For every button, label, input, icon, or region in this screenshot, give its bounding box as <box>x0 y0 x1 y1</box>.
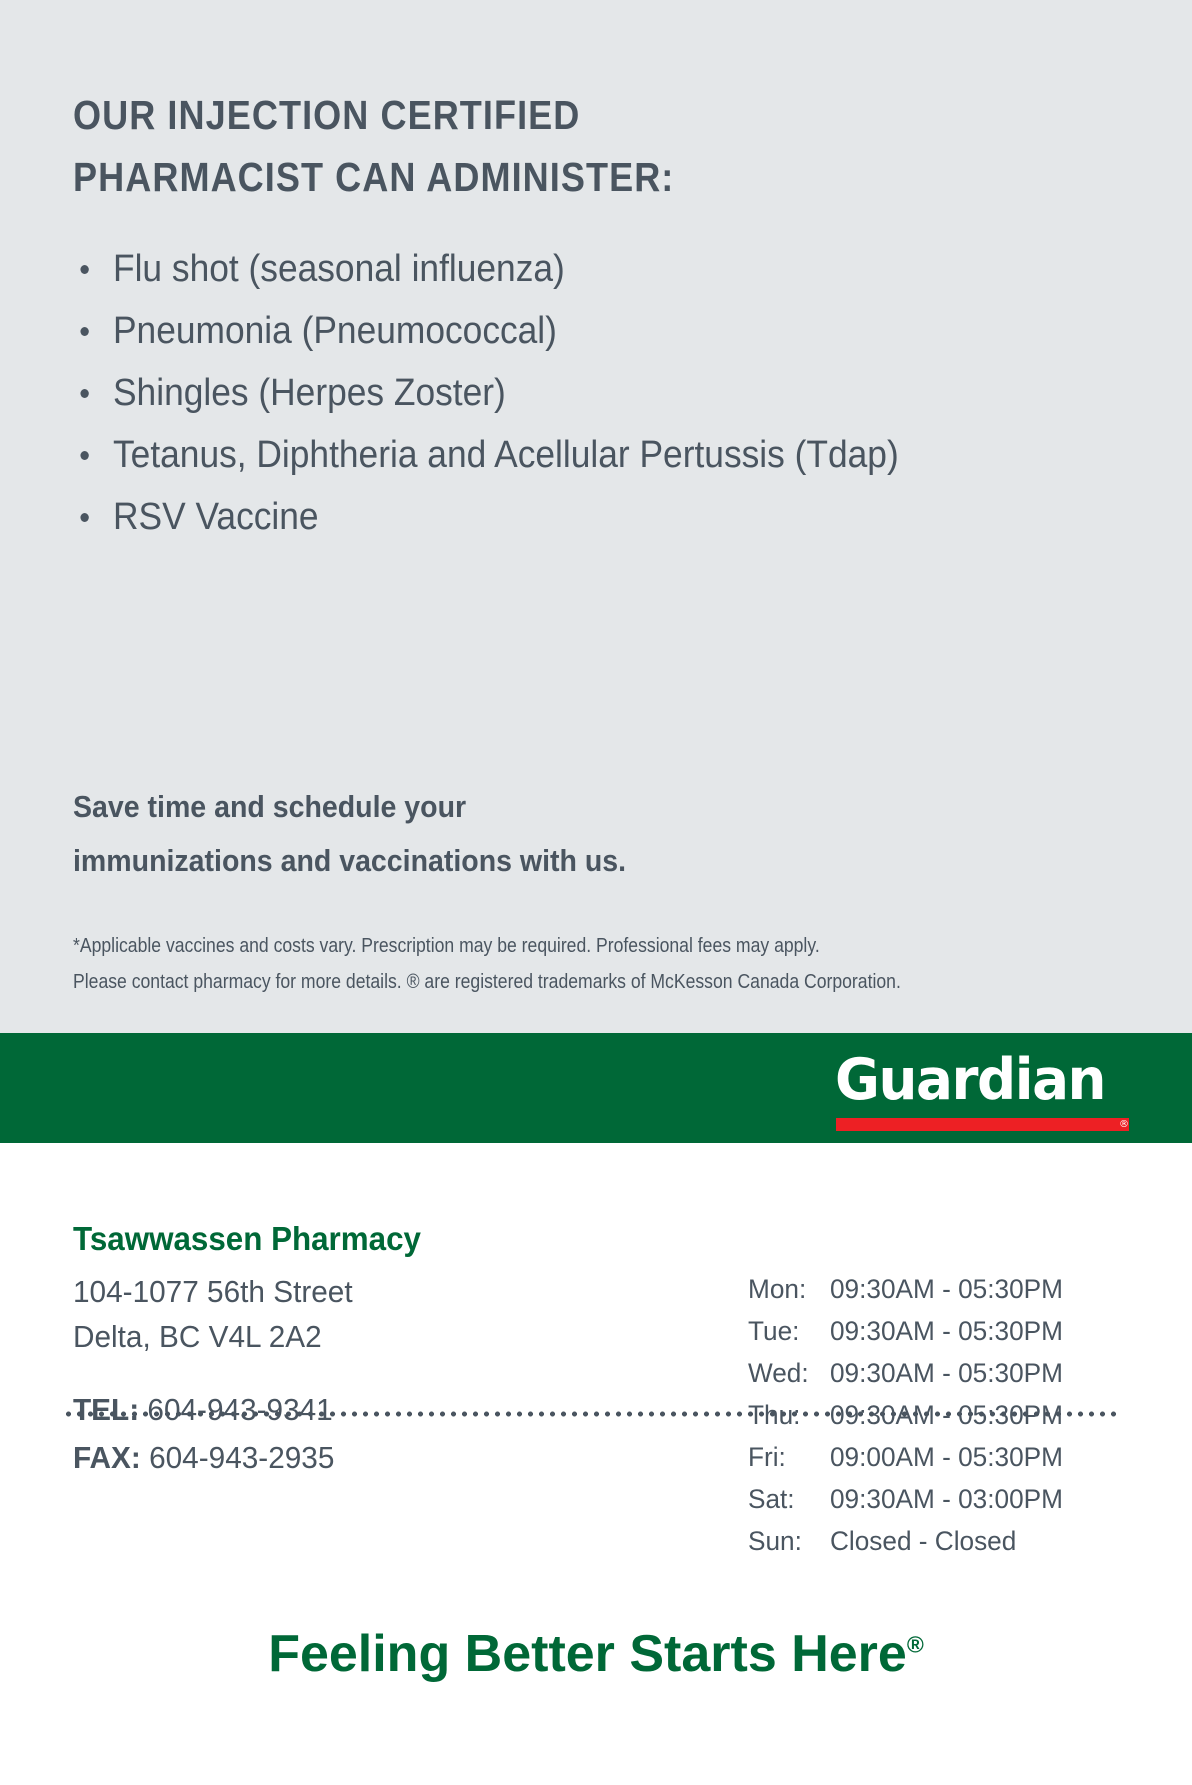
hours-time: 09:30AM - 05:30PM <box>830 1352 1063 1394</box>
telephone-value: 604-943-9341 <box>147 1392 332 1427</box>
registered-trademark-icon: ® <box>907 1632 924 1658</box>
store-address: 104-1077 56th Street Delta, BC V4L 2A2 <box>73 1269 353 1359</box>
hours-time: Closed - Closed <box>830 1520 1063 1562</box>
table-row: Tue: 09:30AM - 05:30PM <box>748 1310 1063 1352</box>
bullet-icon <box>80 265 88 274</box>
list-item-label: RSV Vaccine <box>113 496 319 538</box>
disclaimer: *Applicable vaccines and costs vary. Pre… <box>73 928 997 1000</box>
telephone-label: TEL: <box>73 1392 139 1427</box>
disclaimer-line-2: Please contact pharmacy for more details… <box>73 964 997 1000</box>
save-time-line-1: Save time and schedule your <box>73 780 827 834</box>
headline-line-2: PHARMACIST CAN ADMINISTER: <box>73 146 865 208</box>
guardian-logo: Guardian ® <box>835 1053 1135 1129</box>
fax-value: 604-943-2935 <box>149 1440 334 1475</box>
list-item: RSV Vaccine <box>73 486 1012 548</box>
brand-banner: Guardian ® <box>0 1033 1192 1143</box>
table-row: Sat: 09:30AM - 03:00PM <box>748 1478 1063 1520</box>
list-item: Tetanus, Diphtheria and Acellular Pertus… <box>73 424 1012 486</box>
hours-time: 09:00AM - 05:30PM <box>830 1436 1063 1478</box>
list-item: Flu shot (seasonal influenza) <box>73 238 1012 300</box>
address-line-2: Delta, BC V4L 2A2 <box>73 1314 353 1359</box>
tagline: Feeling Better Starts Here® <box>0 1621 1192 1687</box>
hours-time: 09:30AM - 05:30PM <box>830 1310 1063 1352</box>
telephone-row: TEL: 604-943-9341 <box>73 1386 334 1434</box>
bullet-icon <box>80 451 88 460</box>
address-line-1: 104-1077 56th Street <box>73 1269 353 1314</box>
hours-day: Mon: <box>748 1268 830 1310</box>
bullet-icon <box>80 389 88 398</box>
list-item: Pneumonia (Pneumococcal) <box>73 300 1012 362</box>
headline-line-1: OUR INJECTION CERTIFIED <box>73 84 865 146</box>
save-time-message: Save time and schedule your immunization… <box>73 780 827 888</box>
save-time-line-2: immunizations and vaccinations with us. <box>73 834 827 888</box>
disclaimer-line-1: *Applicable vaccines and costs vary. Pre… <box>73 928 997 964</box>
fax-label: FAX: <box>73 1440 141 1475</box>
table-row: Wed: 09:30AM - 05:30PM <box>748 1352 1063 1394</box>
page-title: OUR INJECTION CERTIFIED PHARMACIST CAN A… <box>73 84 865 208</box>
store-info-section: Tsawwassen Pharmacy 104-1077 56th Street… <box>0 1143 1192 1785</box>
list-item: Shingles (Herpes Zoster) <box>73 362 1012 424</box>
hours-day: Sat: <box>748 1478 830 1520</box>
vaccine-list: Flu shot (seasonal influenza) Pneumonia … <box>73 238 1083 548</box>
hours-time: 09:30AM - 03:00PM <box>830 1478 1063 1520</box>
guardian-wordmark: Guardian <box>835 1050 1123 1110</box>
store-contact: TEL: 604-943-9341 FAX: 604-943-2935 <box>73 1386 334 1482</box>
guardian-underline-bar <box>836 1118 1129 1131</box>
bullet-icon <box>80 327 88 336</box>
tagline-text: Feeling Better Starts Here <box>268 1625 907 1683</box>
registered-trademark-icon: ® <box>1118 1118 1130 1131</box>
hours-day: Wed: <box>748 1352 830 1394</box>
list-item-label: Flu shot (seasonal influenza) <box>113 248 565 290</box>
hours-time: 09:30AM - 05:30PM <box>830 1268 1063 1310</box>
table-row: Sun: Closed - Closed <box>748 1520 1063 1562</box>
store-name: Tsawwassen Pharmacy <box>73 1217 421 1261</box>
dotted-divider <box>63 1411 1118 1417</box>
list-item-label: Pneumonia (Pneumococcal) <box>113 310 557 352</box>
bullet-icon <box>80 513 88 522</box>
list-item-label: Tetanus, Diphtheria and Acellular Pertus… <box>113 434 899 476</box>
fax-row: FAX: 604-943-2935 <box>73 1434 334 1482</box>
hours-day: Sun: <box>748 1520 830 1562</box>
pharmacy-flyer: OUR INJECTION CERTIFIED PHARMACIST CAN A… <box>0 0 1192 1785</box>
list-item-label: Shingles (Herpes Zoster) <box>113 372 506 414</box>
table-row: Mon: 09:30AM - 05:30PM <box>748 1268 1063 1310</box>
hours-day: Tue: <box>748 1310 830 1352</box>
immunization-panel: OUR INJECTION CERTIFIED PHARMACIST CAN A… <box>0 0 1192 1033</box>
hours-day: Fri: <box>748 1436 830 1478</box>
table-row: Fri: 09:00AM - 05:30PM <box>748 1436 1063 1478</box>
